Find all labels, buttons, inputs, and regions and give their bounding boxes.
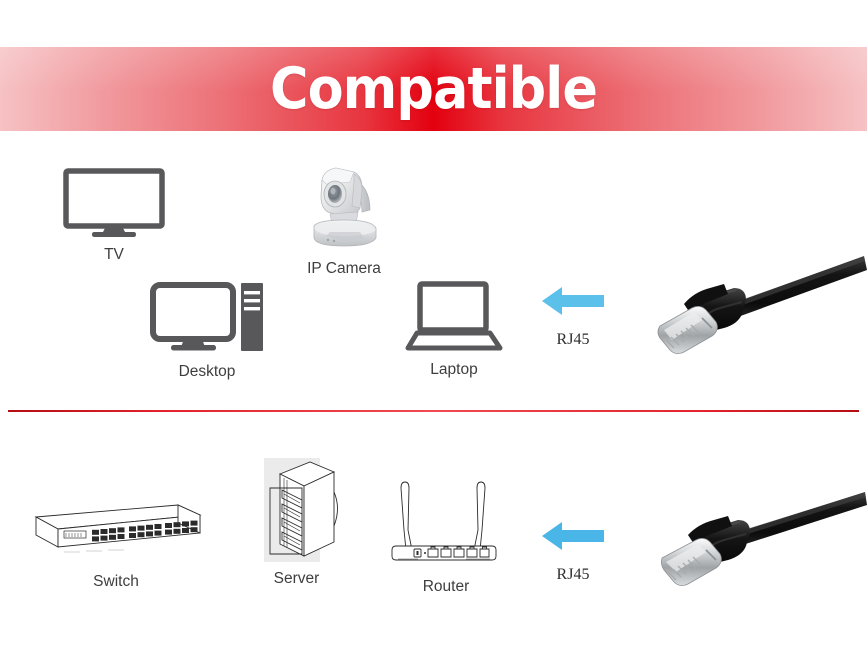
rj45-cable-icon (650, 478, 867, 588)
page-title: Compatible (35, 47, 833, 131)
server-rack-icon (262, 458, 346, 570)
product-compatibility-infographic: Compatible TV (0, 0, 867, 650)
device-tv: TV (62, 168, 166, 268)
device-label-desktop: Desktop (179, 363, 236, 381)
ip-camera-icon (300, 162, 388, 254)
device-desktop: Desktop (150, 281, 264, 381)
connector-label-bottom: RJ45 (557, 566, 590, 584)
device-label-switch: Switch (93, 573, 139, 591)
device-label-laptop: Laptop (430, 361, 477, 379)
rj45-cable-icon (650, 248, 867, 358)
device-label-tv: TV (104, 246, 124, 264)
device-label-router: Router (423, 578, 470, 596)
device-laptop: Laptop (406, 281, 502, 381)
rj45-cable-top (650, 248, 867, 358)
arrow-left-icon (540, 283, 606, 319)
device-ip-camera: IP Camera (300, 162, 388, 282)
tv-icon (62, 168, 166, 240)
compatible-banner: Compatible (0, 47, 867, 131)
arrow-left-icon (540, 518, 606, 554)
router-icon (392, 462, 500, 566)
device-switch: Switch (28, 495, 204, 605)
rj45-connection-top: RJ45 (540, 283, 606, 363)
laptop-icon (406, 281, 502, 351)
desktop-icon (150, 281, 264, 353)
rj45-cable-bottom (650, 478, 867, 588)
connector-label-top: RJ45 (557, 331, 590, 349)
device-server: Server (262, 458, 346, 598)
network-switch-icon (28, 495, 204, 563)
section-divider (8, 410, 859, 412)
device-label-server: Server (274, 570, 320, 588)
device-label-ip-camera: IP Camera (307, 260, 381, 278)
device-router: Router (392, 462, 500, 602)
rj45-connection-bottom: RJ45 (540, 518, 606, 598)
